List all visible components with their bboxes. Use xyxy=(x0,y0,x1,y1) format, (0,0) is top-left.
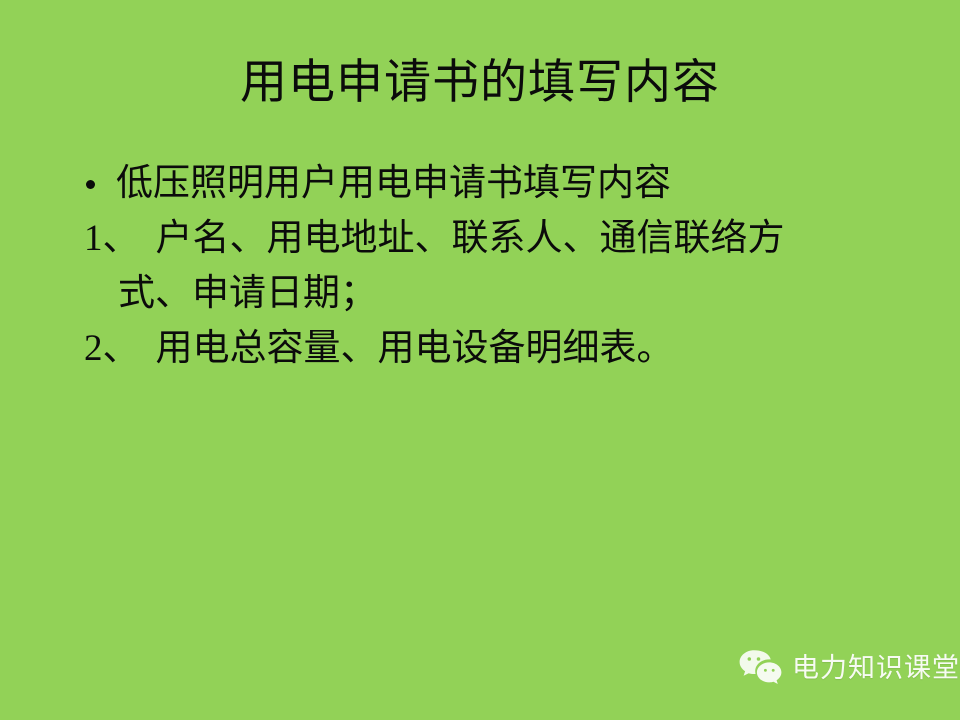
numbered-list-item-1-label: 户名、用电地址、联系人、通信联络方 xyxy=(156,218,785,259)
numbered-list-item-2-label: 用电总容量、用电设备明细表。 xyxy=(156,328,674,369)
numbered-list-item-1: 1、户名、用电地址、联系人、通信联络方 xyxy=(78,211,938,266)
slide-body: 低压照明用户用电申请书填写内容 1、户名、用电地址、联系人、通信联络方 式、申请… xyxy=(78,156,938,376)
bullet-list-item: 低压照明用户用电申请书填写内容 xyxy=(78,156,938,211)
slide-canvas: 用电申请书的填写内容 低压照明用户用电申请书填写内容 1、户名、用电地址、联系人… xyxy=(0,0,960,720)
numbered-list-item-2-marker: 2、 xyxy=(84,328,140,369)
slide-title: 用电申请书的填写内容 xyxy=(0,54,960,112)
numbered-list-item-1-continuation-label: 式、申请日期； xyxy=(118,273,377,314)
numbered-list-item-2: 2、用电总容量、用电设备明细表。 xyxy=(78,321,938,376)
numbered-list-item-1-continuation: 式、申请日期； xyxy=(78,266,938,321)
bullet-list-item-label: 低压照明用户用电申请书填写内容 xyxy=(116,163,671,204)
wechat-icon xyxy=(738,648,784,688)
watermark-label: 电力知识课堂 xyxy=(792,653,960,683)
numbered-list-item-1-marker: 1、 xyxy=(84,218,140,259)
watermark: 电力知识课堂 xyxy=(738,648,960,688)
bullet-dot-icon xyxy=(86,180,95,189)
